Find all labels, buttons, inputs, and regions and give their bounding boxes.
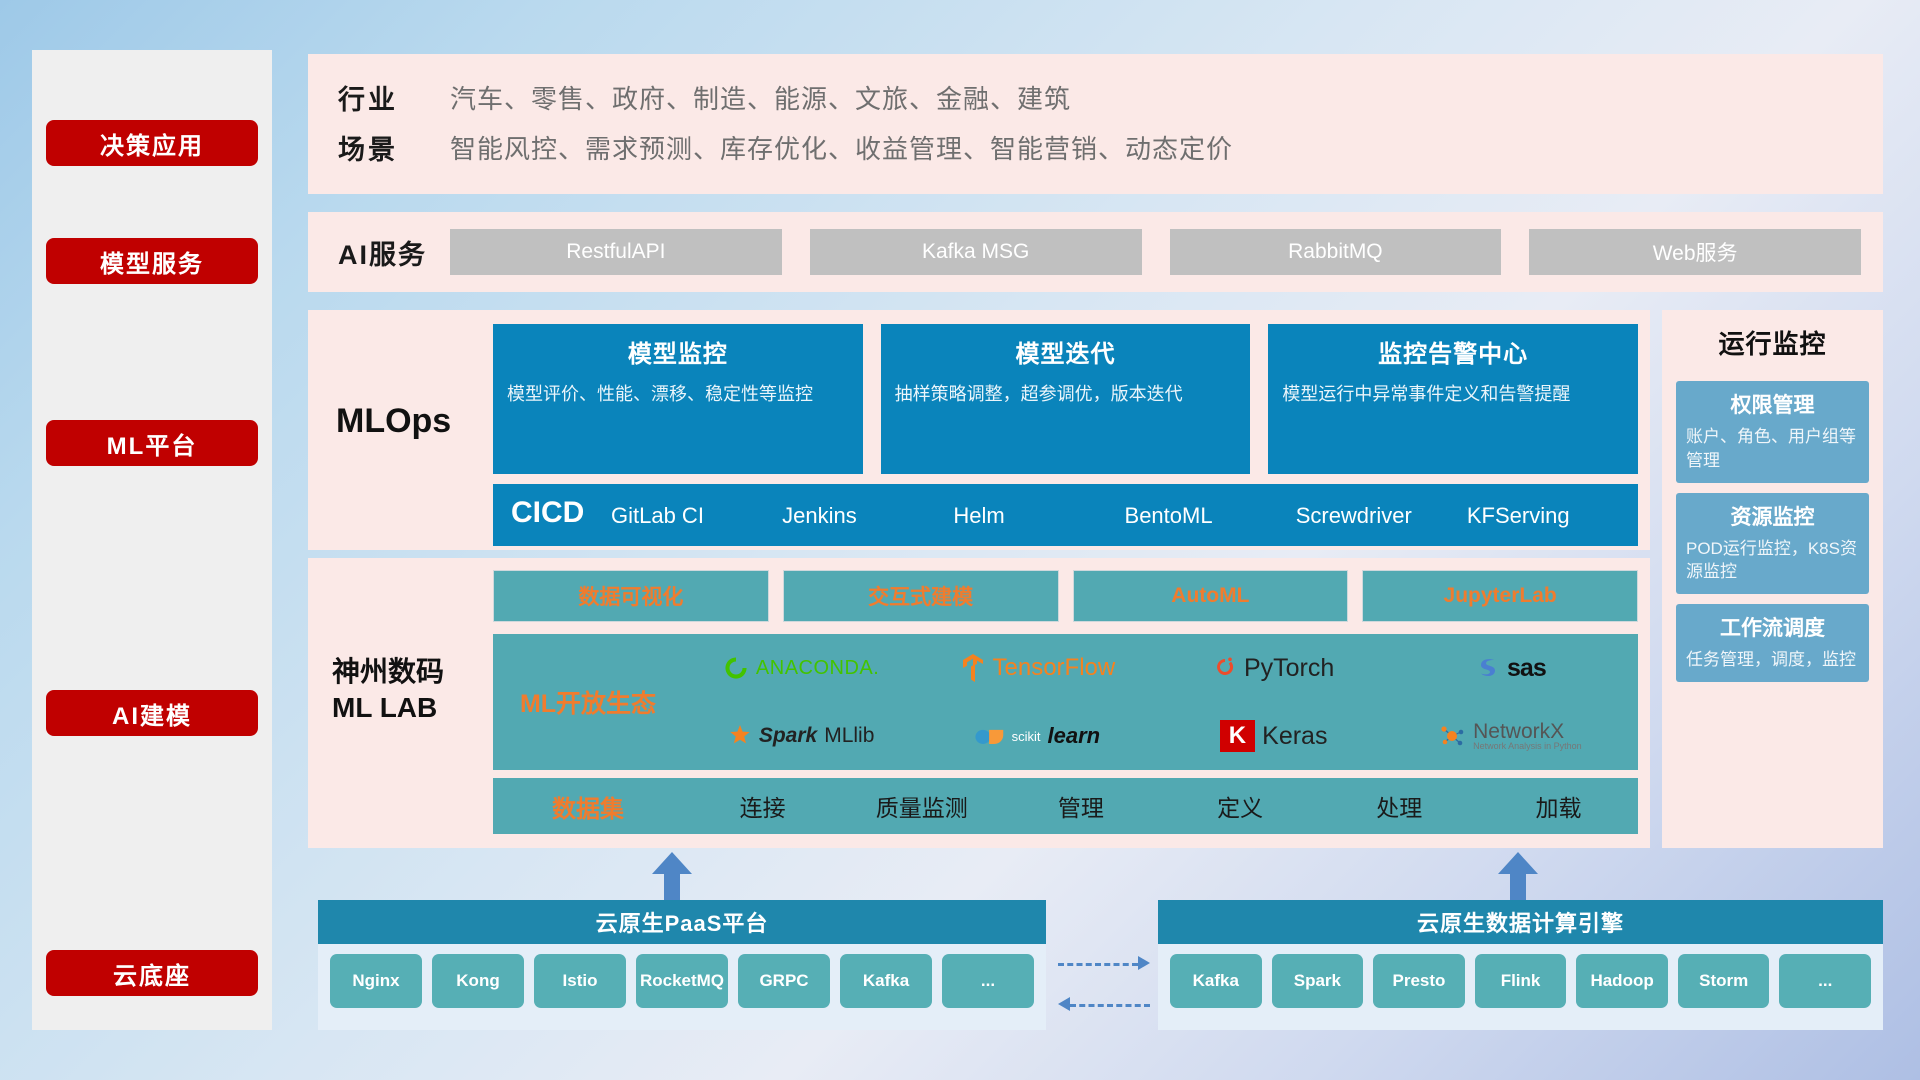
cicd-item-screwdriver[interactable]: Screwdriver bbox=[1296, 484, 1467, 530]
mlops-label: MLOps bbox=[336, 402, 486, 441]
ai-modeling-panel: 神州数码ML LAB 数据可视化 交互式建模 AutoML JupyterLab… bbox=[308, 558, 1650, 848]
mlops-panel: MLOps 模型监控 模型评价、性能、漂移、稳定性等监控 模型迭代 抽样策略调整… bbox=[308, 310, 1650, 550]
rail-badge-ai-modeling[interactable]: AI建模 bbox=[46, 690, 258, 736]
scenario-row: 场景 智能风控、需求预测、库存优化、收益管理、智能营销、动态定价 bbox=[338, 122, 1883, 172]
right-card-desc: 任务管理，调度，监控 bbox=[1686, 648, 1859, 672]
dash-arrow-right-icon bbox=[1138, 956, 1150, 970]
cloud-chip-rocketmq[interactable]: RocketMQ bbox=[636, 954, 728, 1008]
logo-sas: sas bbox=[1474, 654, 1546, 683]
dataset-item-define[interactable]: 定义 bbox=[1161, 789, 1320, 823]
logo-label: Keras bbox=[1262, 722, 1327, 751]
tool-chip-data-visualization[interactable]: 数据可视化 bbox=[493, 570, 769, 622]
cloud-chip-more[interactable]: ... bbox=[942, 954, 1034, 1008]
mlops-card-title: 模型迭代 bbox=[895, 334, 1237, 369]
cloud-data-engine-block: 云原生数据计算引擎 Kafka Spark Presto Flink Hadoo… bbox=[1158, 900, 1883, 1030]
ai-service-chip-restfulapi[interactable]: RestfulAPI bbox=[450, 229, 782, 275]
cloud-paas-chip-list: Nginx Kong Istio RocketMQ GRPC Kafka ... bbox=[318, 944, 1046, 1018]
cloud-chip-istio[interactable]: Istio bbox=[534, 954, 626, 1008]
anaconda-icon bbox=[723, 655, 749, 681]
sas-icon bbox=[1474, 655, 1500, 681]
rail-badge-cloud-foundation[interactable]: 云底座 bbox=[46, 950, 258, 996]
right-card-title: 权限管理 bbox=[1686, 389, 1859, 419]
spark-star-icon bbox=[728, 724, 752, 748]
mlops-card-model-iteration[interactable]: 模型迭代 抽样策略调整，超参调优，版本迭代 bbox=[881, 324, 1251, 474]
right-card-resource-monitoring[interactable]: 资源监控 POD运行监控，K8S资源监控 bbox=[1676, 493, 1869, 595]
ai-service-chip-rabbitmq[interactable]: RabbitMQ bbox=[1170, 229, 1502, 275]
dash-arrow-left-icon bbox=[1058, 997, 1070, 1011]
cicd-item-list: GitLab CI Jenkins Helm BentoML Screwdriv… bbox=[611, 484, 1638, 530]
ai-service-label: AI服务 bbox=[338, 233, 450, 272]
ai-service-chip-kafka-msg[interactable]: Kafka MSG bbox=[810, 229, 1142, 275]
logo-pytorch: PyTorch bbox=[1213, 654, 1334, 683]
cicd-item-kfserving[interactable]: KFServing bbox=[1467, 484, 1638, 530]
logo-prefix: Spark bbox=[759, 724, 817, 748]
ml-ecosystem-band: ML开放生态 ANACONDA. TensorFlow bbox=[493, 634, 1638, 770]
cloud-paas-title: 云原生PaaS平台 bbox=[318, 900, 1046, 944]
right-card-title: 工作流调度 bbox=[1686, 612, 1859, 642]
logo-label: ANACONDA. bbox=[756, 657, 879, 680]
cicd-label: CICD bbox=[493, 484, 611, 530]
industry-row: 行业 汽车、零售、政府、制造、能源、文旅、金融、建筑 bbox=[338, 72, 1883, 122]
dataset-item-load[interactable]: 加载 bbox=[1479, 789, 1638, 823]
right-card-title: 资源监控 bbox=[1686, 501, 1859, 531]
tensorflow-icon bbox=[960, 654, 986, 682]
mlops-card-list: 模型监控 模型评价、性能、漂移、稳定性等监控 模型迭代 抽样策略调整，超参调优，… bbox=[493, 324, 1638, 474]
logo-subtitle: Network Analysis in Python bbox=[1473, 742, 1582, 751]
dataset-bar: 数据集 连接 质量监测 管理 定义 处理 加载 bbox=[493, 778, 1638, 834]
logo-prefix: scikit bbox=[1012, 729, 1041, 744]
dataset-item-quality[interactable]: 质量监测 bbox=[842, 789, 1001, 823]
rail-badge-model-service[interactable]: 模型服务 bbox=[46, 238, 258, 284]
cloud-paas-block: 云原生PaaS平台 Nginx Kong Istio RocketMQ GRPC… bbox=[318, 900, 1046, 1030]
logo-tensorflow: TensorFlow bbox=[960, 654, 1116, 682]
left-layer-rail: 决策应用 模型服务 ML平台 AI建模 云底座 bbox=[32, 50, 272, 1030]
ml-ecosystem-label: ML开放生态 bbox=[493, 684, 683, 720]
rail-badge-decision-apps[interactable]: 决策应用 bbox=[46, 120, 258, 166]
logo-label: learn bbox=[1048, 723, 1101, 749]
decision-apps-panel: 行业 汽车、零售、政府、制造、能源、文旅、金融、建筑 场景 智能风控、需求预测、… bbox=[308, 54, 1883, 194]
tool-chip-automl[interactable]: AutoML bbox=[1073, 570, 1349, 622]
ai-service-panel: AI服务 RestfulAPI Kafka MSG RabbitMQ Web服务 bbox=[308, 212, 1883, 292]
cloud-data-engine-title: 云原生数据计算引擎 bbox=[1158, 900, 1883, 944]
cloud-chip-more[interactable]: ... bbox=[1779, 954, 1871, 1008]
logo-label: MLlib bbox=[824, 724, 874, 748]
logo-label: PyTorch bbox=[1244, 654, 1334, 683]
logo-scikit-learn: scikit learn bbox=[975, 723, 1100, 749]
mlops-card-title: 模型监控 bbox=[507, 334, 849, 369]
cicd-item-jenkins[interactable]: Jenkins bbox=[782, 484, 953, 530]
ml-tool-list: 数据可视化 交互式建模 AutoML JupyterLab bbox=[493, 570, 1638, 622]
cicd-item-gitlab-ci[interactable]: GitLab CI bbox=[611, 484, 782, 530]
mlops-card-desc: 模型评价、性能、漂移、稳定性等监控 bbox=[507, 381, 849, 407]
ml-lab-label: 神州数码ML LAB bbox=[332, 654, 492, 727]
dataset-item-list: 连接 质量监测 管理 定义 处理 加载 bbox=[683, 789, 1638, 823]
logo-keras: K Keras bbox=[1220, 720, 1328, 752]
rail-badge-ml-platform[interactable]: ML平台 bbox=[46, 420, 258, 466]
dataset-item-manage[interactable]: 管理 bbox=[1001, 789, 1160, 823]
mlops-card-desc: 抽样策略调整，超参调优，版本迭代 bbox=[895, 381, 1237, 407]
mlops-card-title: 监控告警中心 bbox=[1282, 334, 1624, 369]
ml-ecosystem-logo-grid: ANACONDA. TensorFlow PyTorch bbox=[683, 634, 1638, 770]
industry-label: 行业 bbox=[338, 78, 450, 117]
cloud-chip-spark[interactable]: Spark bbox=[1272, 954, 1364, 1008]
logo-label: TensorFlow bbox=[993, 654, 1116, 682]
architecture-diagram: 决策应用 模型服务 ML平台 AI建模 云底座 行业 汽车、零售、政府、制造、能… bbox=[0, 0, 1920, 1080]
mlops-card-alert-center[interactable]: 监控告警中心 模型运行中异常事件定义和告警提醒 bbox=[1268, 324, 1638, 474]
dataset-item-connect[interactable]: 连接 bbox=[683, 789, 842, 823]
tool-chip-interactive-modeling[interactable]: 交互式建模 bbox=[783, 570, 1059, 622]
cloud-chip-grpc[interactable]: GRPC bbox=[738, 954, 830, 1008]
cicd-bar: CICD GitLab CI Jenkins Helm BentoML Scre… bbox=[493, 484, 1638, 546]
mlops-card-desc: 模型运行中异常事件定义和告警提醒 bbox=[1282, 381, 1624, 407]
cicd-item-helm[interactable]: Helm bbox=[953, 484, 1124, 530]
dash-line-right bbox=[1058, 963, 1138, 966]
dataset-item-process[interactable]: 处理 bbox=[1320, 789, 1479, 823]
right-card-workflow-scheduling[interactable]: 工作流调度 任务管理，调度，监控 bbox=[1676, 604, 1869, 682]
logo-label: NetworkX bbox=[1473, 721, 1582, 742]
tool-chip-jupyterlab[interactable]: JupyterLab bbox=[1362, 570, 1638, 622]
pytorch-icon bbox=[1213, 655, 1237, 681]
right-card-desc: 账户、角色、用户组等管理 bbox=[1686, 425, 1859, 473]
cloud-chip-kafka[interactable]: Kafka bbox=[840, 954, 932, 1008]
networkx-icon bbox=[1438, 723, 1466, 749]
ai-service-chip-list: RestfulAPI Kafka MSG RabbitMQ Web服务 bbox=[450, 229, 1883, 275]
industry-value: 汽车、零售、政府、制造、能源、文旅、金融、建筑 bbox=[450, 79, 1071, 116]
cloud-data-engine-chip-list: Kafka Spark Presto Flink Hadoop Storm ..… bbox=[1158, 944, 1883, 1018]
ai-service-chip-web[interactable]: Web服务 bbox=[1529, 229, 1861, 275]
logo-spark-mllib: Spark MLlib bbox=[728, 724, 875, 748]
scikit-learn-icon bbox=[975, 724, 1005, 748]
right-card-permission-management[interactable]: 权限管理 账户、角色、用户组等管理 bbox=[1676, 381, 1869, 483]
right-card-desc: POD运行监控，K8S资源监控 bbox=[1686, 537, 1859, 585]
logo-anaconda: ANACONDA. bbox=[723, 655, 879, 681]
cloud-chip-kong[interactable]: Kong bbox=[432, 954, 524, 1008]
mlops-card-model-monitoring[interactable]: 模型监控 模型评价、性能、漂移、稳定性等监控 bbox=[493, 324, 863, 474]
cloud-chip-hadoop[interactable]: Hadoop bbox=[1576, 954, 1668, 1008]
scenario-label: 场景 bbox=[338, 128, 450, 167]
runtime-monitoring-title: 运行监控 bbox=[1662, 310, 1883, 371]
runtime-monitoring-panel: 运行监控 权限管理 账户、角色、用户组等管理 资源监控 POD运行监控，K8S资… bbox=[1662, 310, 1883, 848]
cloud-chip-presto[interactable]: Presto bbox=[1373, 954, 1465, 1008]
logo-label: sas bbox=[1507, 654, 1546, 683]
cicd-item-bentoml[interactable]: BentoML bbox=[1125, 484, 1296, 530]
cloud-chip-nginx[interactable]: Nginx bbox=[330, 954, 422, 1008]
cloud-chip-kafka[interactable]: Kafka bbox=[1170, 954, 1262, 1008]
dash-line-left bbox=[1070, 1004, 1150, 1007]
cloud-chip-flink[interactable]: Flink bbox=[1475, 954, 1567, 1008]
scenario-value: 智能风控、需求预测、库存优化、收益管理、智能营销、动态定价 bbox=[450, 129, 1233, 166]
cloud-chip-storm[interactable]: Storm bbox=[1678, 954, 1770, 1008]
dataset-label: 数据集 bbox=[493, 789, 683, 824]
keras-icon: K bbox=[1220, 720, 1255, 752]
logo-networkx: NetworkX Network Analysis in Python bbox=[1438, 721, 1582, 751]
